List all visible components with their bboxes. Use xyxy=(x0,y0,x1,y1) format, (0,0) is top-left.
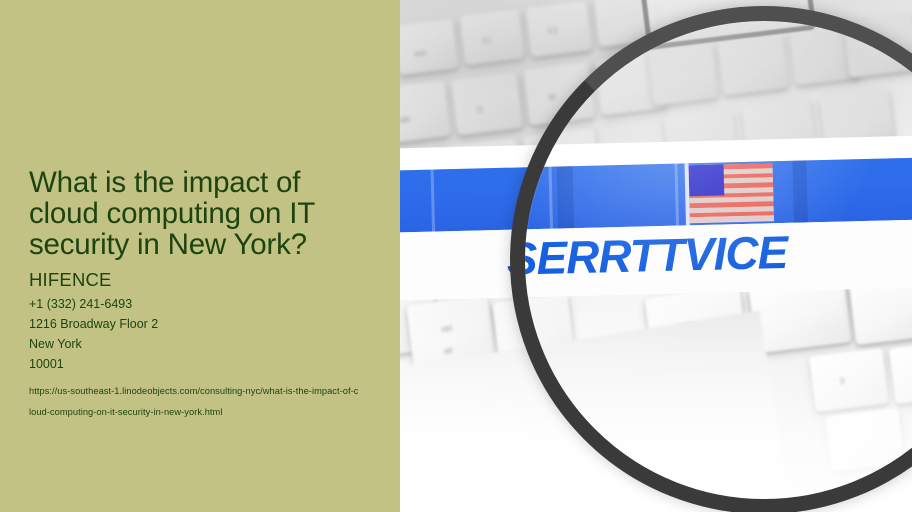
page-title: What is the impact of cloud computing on… xyxy=(29,167,374,260)
banner-shade xyxy=(557,166,575,228)
banner-headline: SERRTTVICE xyxy=(506,225,788,286)
text-stack: What is the impact of cloud computing on… xyxy=(29,167,374,422)
source-url[interactable]: https://us-southeast-1.linodeobjects.com… xyxy=(29,381,359,422)
address-street: 1216 Broadway Floor 2 xyxy=(29,314,374,334)
address-postal-code: 10001 xyxy=(29,354,374,374)
address-city: New York xyxy=(29,334,374,354)
us-flag-icon xyxy=(689,163,774,223)
left-text-panel: What is the impact of cloud computing on… xyxy=(0,0,400,512)
brand-name: HIFENCE xyxy=(29,269,374,290)
banner-shade xyxy=(792,160,808,222)
phone-number[interactable]: +1 (332) 241-6493 xyxy=(29,294,374,314)
keyboard-magnifier-photo: esc F1 F2 tab Q W A Z ctrlalt xyxy=(400,0,912,512)
promo-card: What is the impact of cloud computing on… xyxy=(0,0,912,512)
flag-canton xyxy=(689,164,725,196)
website-banner: SERRTTVICE xyxy=(400,149,912,302)
banner-region: SERRTTVICE xyxy=(400,0,912,512)
